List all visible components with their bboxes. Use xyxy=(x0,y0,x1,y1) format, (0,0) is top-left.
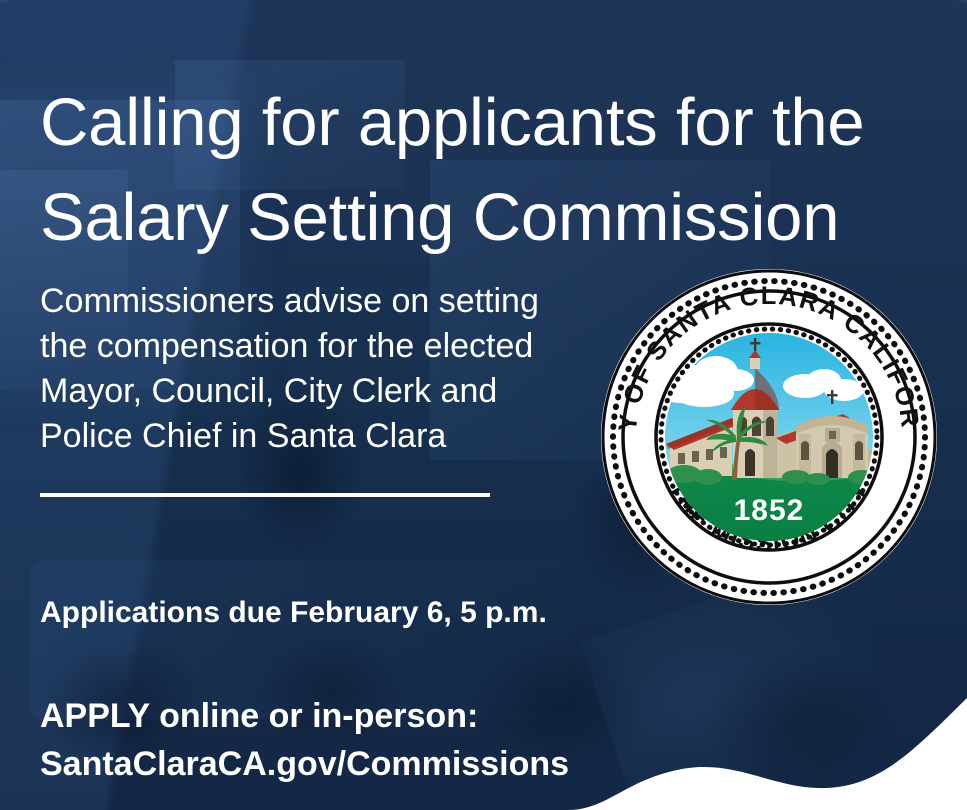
seal-year: 1852 xyxy=(734,494,805,527)
deadline-text: Applications due February 6, 5 p.m. xyxy=(40,593,547,633)
description-text: Commissioners advise on setting the comp… xyxy=(40,279,600,459)
poster-content: Calling for applicants for the Salary Se… xyxy=(0,0,967,810)
poster-canvas: Calling for applicants for the Salary Se… xyxy=(0,0,967,810)
divider-rule xyxy=(40,493,490,497)
city-seal: CITY OF SANTA CLARA CALIFORNIA THE MISSI… xyxy=(600,268,938,606)
apply-instructions: APPLY online or in-person: SantaClaraCA.… xyxy=(40,692,660,788)
page-title: Calling for applicants for the Salary Se… xyxy=(40,75,940,265)
